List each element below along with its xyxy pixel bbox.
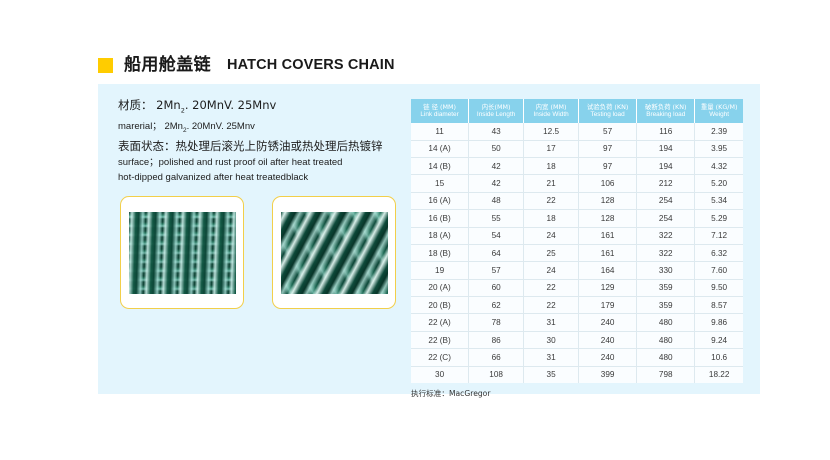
- page-title-en: HATCH COVERS CHAIN: [227, 58, 395, 73]
- table-cell-r15-c6: 18.22: [695, 366, 743, 383]
- table-body: 114312.5571162.3914 (A)5017971943.9514 (…: [411, 123, 743, 383]
- table-row: 22 (C)663124048010.6: [411, 349, 743, 366]
- table-column-header-3: 内宽 (MM)Inside Width: [524, 99, 579, 123]
- table-cell-r6-c1: 16 (B): [411, 210, 469, 227]
- table-cell-r1-c1: 11: [411, 123, 469, 140]
- table-cell-r6-c6: 5.29: [695, 210, 743, 227]
- surface-line-en-2: hot-dipped galvanized after heat treated…: [118, 170, 418, 185]
- table-cell-r11-c2: 62: [469, 297, 524, 314]
- table-cell-r14-c3: 31: [524, 349, 579, 366]
- table-cell-r11-c6: 8.57: [695, 297, 743, 314]
- table-cell-r1-c2: 43: [469, 123, 524, 140]
- table-column-header-cn-5: 破断负荷 (KN): [638, 103, 693, 112]
- table-cell-r14-c4: 240: [579, 349, 637, 366]
- table-cell-r10-c6: 9.50: [695, 279, 743, 296]
- table-column-header-2: 内长(MM)Inside Length: [469, 99, 524, 123]
- table-cell-r10-c4: 129: [579, 279, 637, 296]
- table-row: 1957241643307.60: [411, 262, 743, 279]
- table-cell-r13-c3: 30: [524, 331, 579, 348]
- table-column-header-en-6: Weight: [696, 111, 742, 120]
- title-marker-square: [98, 58, 113, 73]
- table-cell-r6-c2: 55: [469, 210, 524, 227]
- table-cell-r12-c5: 480: [637, 314, 695, 331]
- chain-photo-tangled-links-image: [281, 212, 388, 294]
- table-row: 14 (A)5017971943.95: [411, 140, 743, 157]
- table-row: 301083539979818.22: [411, 366, 743, 383]
- table-cell-r12-c3: 31: [524, 314, 579, 331]
- table-cell-r5-c2: 48: [469, 192, 524, 209]
- table-cell-r12-c2: 78: [469, 314, 524, 331]
- table-column-header-cn-4: 试验负荷 (KN): [580, 103, 635, 112]
- table-column-header-5: 破断负荷 (KN)Breaking load: [637, 99, 695, 123]
- table-cell-r5-c1: 16 (A): [411, 192, 469, 209]
- table-cell-r9-c6: 7.60: [695, 262, 743, 279]
- material-label-cn: 材质：: [118, 98, 153, 112]
- table-cell-r10-c5: 359: [637, 279, 695, 296]
- table-header-row: 链 径 (MM)Link diameter内长(MM)Inside Length…: [411, 99, 743, 123]
- table-cell-r3-c1: 14 (B): [411, 157, 469, 174]
- material-label-en: marerial；: [118, 121, 162, 132]
- table-cell-r6-c4: 128: [579, 210, 637, 227]
- table-column-header-en-5: Breaking load: [638, 111, 693, 120]
- table-column-header-1: 链 径 (MM)Link diameter: [411, 99, 469, 123]
- table-column-header-cn-2: 内长(MM): [470, 103, 522, 112]
- table-column-header-en-3: Inside Width: [525, 111, 577, 120]
- specification-table: 链 径 (MM)Link diameter内长(MM)Inside Length…: [411, 99, 743, 383]
- table-cell-r9-c5: 330: [637, 262, 695, 279]
- table-cell-r5-c6: 5.34: [695, 192, 743, 209]
- table-column-header-cn-3: 内宽 (MM): [525, 103, 577, 112]
- table-cell-r15-c2: 108: [469, 366, 524, 383]
- table-standard-note: 执行标准：MacGregor: [411, 388, 743, 399]
- table-cell-r1-c5: 116: [637, 123, 695, 140]
- table-cell-r1-c6: 2.39: [695, 123, 743, 140]
- table-cell-r14-c1: 22 (C): [411, 349, 469, 366]
- table-column-header-en-2: Inside Length: [470, 111, 522, 120]
- table-column-header-6: 重量 (KG/M)Weight: [695, 99, 743, 123]
- specification-text: 材质： 2Mn2. 20MnV. 25Mnv marerial； 2Mn2. 2…: [118, 97, 418, 185]
- table-column-header-cn-6: 重量 (KG/M): [696, 103, 742, 112]
- table-cell-r12-c1: 22 (A): [411, 314, 469, 331]
- table-cell-r8-c4: 161: [579, 244, 637, 261]
- material-rest-cn: . 20MnV. 25Mnv: [185, 98, 277, 112]
- table-cell-r2-c2: 50: [469, 140, 524, 157]
- table-cell-r4-c5: 212: [637, 175, 695, 192]
- table-cell-r13-c2: 86: [469, 331, 524, 348]
- table-cell-r10-c2: 60: [469, 279, 524, 296]
- table-cell-r5-c3: 22: [524, 192, 579, 209]
- table-cell-r6-c3: 18: [524, 210, 579, 227]
- surface-line-cn: 表面状态：热处理后滚光上防锈油或热处理后热镀锌: [118, 138, 418, 155]
- table-row: 18 (A)54241613227.12: [411, 227, 743, 244]
- table-row: 1542211062125.20: [411, 175, 743, 192]
- table-cell-r9-c4: 164: [579, 262, 637, 279]
- table-cell-r13-c5: 480: [637, 331, 695, 348]
- table-cell-r15-c5: 798: [637, 366, 695, 383]
- table-row: 22 (A)78312404809.86: [411, 314, 743, 331]
- material-line-en: marerial； 2Mn2. 20MnV. 25Mnv: [118, 119, 418, 138]
- surface-line-en-1: surface；polished and rust proof oil afte…: [118, 155, 418, 170]
- table-column-header-4: 试验负荷 (KN)Testing load: [579, 99, 637, 123]
- table-cell-r8-c2: 64: [469, 244, 524, 261]
- table-cell-r3-c5: 194: [637, 157, 695, 174]
- table-cell-r7-c1: 18 (A): [411, 227, 469, 244]
- table-cell-r12-c6: 9.86: [695, 314, 743, 331]
- table-cell-r6-c5: 254: [637, 210, 695, 227]
- table-cell-r10-c1: 20 (A): [411, 279, 469, 296]
- table-cell-r8-c5: 322: [637, 244, 695, 261]
- table-cell-r5-c5: 254: [637, 192, 695, 209]
- table-cell-r3-c3: 18: [524, 157, 579, 174]
- table-cell-r7-c5: 322: [637, 227, 695, 244]
- material-value-cn: 2Mn: [156, 98, 181, 112]
- table-row: 16 (A)48221282545.34: [411, 192, 743, 209]
- specification-table-wrap: 链 径 (MM)Link diameter内长(MM)Inside Length…: [411, 99, 743, 399]
- table-cell-r8-c6: 6.32: [695, 244, 743, 261]
- table-cell-r15-c4: 399: [579, 366, 637, 383]
- table-column-header-en-1: Link diameter: [412, 111, 467, 120]
- table-cell-r2-c4: 97: [579, 140, 637, 157]
- product-photo-gallery: [120, 196, 396, 309]
- table-row: 14 (B)4218971944.32: [411, 157, 743, 174]
- table-cell-r14-c2: 66: [469, 349, 524, 366]
- table-cell-r3-c6: 4.32: [695, 157, 743, 174]
- table-cell-r4-c6: 5.20: [695, 175, 743, 192]
- table-cell-r13-c1: 22 (B): [411, 331, 469, 348]
- table-cell-r15-c1: 30: [411, 366, 469, 383]
- table-cell-r2-c1: 14 (A): [411, 140, 469, 157]
- table-column-header-cn-1: 链 径 (MM): [412, 103, 467, 112]
- table-cell-r11-c4: 179: [579, 297, 637, 314]
- table-cell-r4-c1: 15: [411, 175, 469, 192]
- page-title-cn: 船用舱盖链: [124, 57, 211, 74]
- material-rest-en: . 20MnV. 25Mnv: [187, 121, 255, 132]
- table-row: 22 (B)86302404809.24: [411, 331, 743, 348]
- table-row: 16 (B)55181282545.29: [411, 210, 743, 227]
- table-cell-r13-c4: 240: [579, 331, 637, 348]
- page-title: 船用舱盖链 HATCH COVERS CHAIN: [98, 57, 395, 74]
- table-cell-r8-c3: 25: [524, 244, 579, 261]
- chain-photo-tangled-links: [272, 196, 396, 309]
- table-cell-r7-c2: 54: [469, 227, 524, 244]
- table-cell-r3-c2: 42: [469, 157, 524, 174]
- table-cell-r2-c5: 194: [637, 140, 695, 157]
- table-cell-r14-c5: 480: [637, 349, 695, 366]
- table-cell-r13-c6: 9.24: [695, 331, 743, 348]
- table-row: 20 (B)62221793598.57: [411, 297, 743, 314]
- material-line-cn: 材质： 2Mn2. 20MnV. 25Mnv: [118, 97, 418, 119]
- table-cell-r5-c4: 128: [579, 192, 637, 209]
- table-row: 114312.5571162.39: [411, 123, 743, 140]
- table-cell-r1-c3: 12.5: [524, 123, 579, 140]
- table-cell-r4-c4: 106: [579, 175, 637, 192]
- table-cell-r9-c1: 19: [411, 262, 469, 279]
- table-cell-r11-c1: 20 (B): [411, 297, 469, 314]
- table-column-header-en-4: Testing load: [580, 111, 635, 120]
- chain-photo-stacked-links-image: [129, 212, 236, 294]
- table-cell-r4-c3: 21: [524, 175, 579, 192]
- table-cell-r8-c1: 18 (B): [411, 244, 469, 261]
- table-cell-r2-c6: 3.95: [695, 140, 743, 157]
- table-row: 20 (A)60221293599.50: [411, 279, 743, 296]
- table-cell-r3-c4: 97: [579, 157, 637, 174]
- table-cell-r11-c3: 22: [524, 297, 579, 314]
- material-value-en: 2Mn: [164, 121, 182, 132]
- table-cell-r9-c3: 24: [524, 262, 579, 279]
- table-cell-r7-c4: 161: [579, 227, 637, 244]
- table-cell-r7-c6: 7.12: [695, 227, 743, 244]
- table-cell-r12-c4: 240: [579, 314, 637, 331]
- chain-photo-stacked-links: [120, 196, 244, 309]
- content-panel: 材质： 2Mn2. 20MnV. 25Mnv marerial； 2Mn2. 2…: [98, 84, 760, 394]
- table-cell-r7-c3: 24: [524, 227, 579, 244]
- table-cell-r11-c5: 359: [637, 297, 695, 314]
- table-cell-r9-c2: 57: [469, 262, 524, 279]
- table-row: 18 (B)64251613226.32: [411, 244, 743, 261]
- table-cell-r14-c6: 10.6: [695, 349, 743, 366]
- table-cell-r10-c3: 22: [524, 279, 579, 296]
- table-cell-r15-c3: 35: [524, 366, 579, 383]
- table-cell-r4-c2: 42: [469, 175, 524, 192]
- table-cell-r2-c3: 17: [524, 140, 579, 157]
- table-cell-r1-c4: 57: [579, 123, 637, 140]
